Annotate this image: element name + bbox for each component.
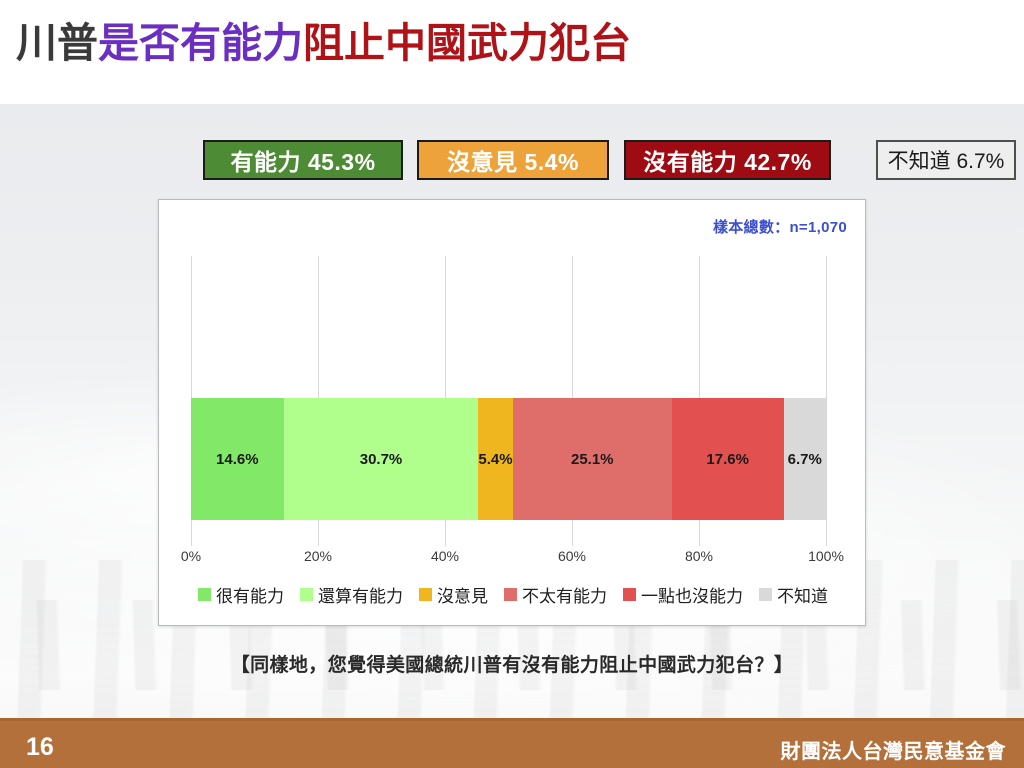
legend-swatch-icon — [198, 588, 211, 601]
x-axis-tick-labels: 0%20%40%60%80%100% — [191, 548, 826, 570]
chart-caption: 【同樣地，您覺得美國總統川普有沒有能力阻止中國武力犯台？】 — [0, 650, 1024, 677]
footer-organization: 財團法人台灣民意基金會 — [781, 735, 1007, 764]
sample-size-note: 樣本總數：n=1,070 — [713, 216, 847, 237]
x-tick-20: 20% — [304, 548, 332, 564]
legend-item-3[interactable]: 沒意見 — [419, 582, 488, 607]
x-tick-100: 100% — [808, 548, 844, 564]
legend-item-5[interactable]: 一點也沒能力 — [623, 582, 743, 607]
page-title: 川普是否有能力阻止中國武力犯台 — [16, 19, 631, 67]
chart-legend: 很有能力還算有能力沒意見不太有能力一點也沒能力不知道 — [159, 582, 867, 607]
title-part-question: 是否有能力 — [98, 20, 303, 66]
legend-swatch-icon — [300, 588, 313, 601]
title-part-subject: 川普 — [16, 20, 98, 66]
legend-item-2[interactable]: 還算有能力 — [300, 582, 403, 607]
bar-segment-2: 30.7% — [284, 398, 479, 520]
plot-area: 14.6%30.7%5.4%25.1%17.6%6.7% — [191, 256, 826, 546]
legend-item-6[interactable]: 不知道 — [759, 582, 828, 607]
page-number: 16 — [26, 733, 54, 762]
summary-box-unable: 沒有能力 42.7% — [624, 140, 831, 180]
summary-box-dont-know: 不知道 6.7% — [876, 140, 1016, 180]
footer-bar: 16 財團法人台灣民意基金會 — [0, 718, 1024, 768]
legend-label: 很有能力 — [216, 582, 284, 607]
legend-swatch-icon — [504, 588, 517, 601]
bar-segment-4: 25.1% — [513, 398, 672, 520]
legend-item-1[interactable]: 很有能力 — [198, 582, 284, 607]
legend-label: 一點也沒能力 — [641, 582, 743, 607]
stacked-bar: 14.6%30.7%5.4%25.1%17.6%6.7% — [191, 398, 826, 520]
legend-label: 還算有能力 — [318, 582, 403, 607]
legend-label: 不太有能力 — [522, 582, 607, 607]
title-part-topic: 阻止中國武力犯台 — [303, 20, 631, 66]
legend-item-4[interactable]: 不太有能力 — [504, 582, 607, 607]
bar-segment-6: 6.7% — [784, 398, 827, 520]
title-band: 川普是否有能力阻止中國武力犯台 — [0, 0, 1024, 104]
legend-label: 不知道 — [777, 582, 828, 607]
chart-panel: 樣本總數：n=1,070 14.6%30.7%5.4%25.1%17.6%6.7… — [158, 199, 866, 626]
x-tick-80: 80% — [685, 548, 713, 564]
legend-swatch-icon — [623, 588, 636, 601]
x-tick-0: 0% — [181, 548, 201, 564]
summary-box-no-opinion: 沒意見 5.4% — [417, 140, 609, 180]
x-tick-40: 40% — [431, 548, 459, 564]
bar-segment-3: 5.4% — [478, 398, 512, 520]
legend-swatch-icon — [759, 588, 772, 601]
bar-segment-1: 14.6% — [191, 398, 284, 520]
summary-boxes: 有能力 45.3% 沒意見 5.4% 沒有能力 42.7% 不知道 6.7% — [0, 140, 1024, 182]
bar-segment-5: 17.6% — [672, 398, 784, 520]
legend-label: 沒意見 — [437, 582, 488, 607]
legend-swatch-icon — [419, 588, 432, 601]
slide: 川普是否有能力阻止中國武力犯台 有能力 45.3% 沒意見 5.4% 沒有能力 … — [0, 0, 1024, 768]
summary-box-able: 有能力 45.3% — [203, 140, 403, 180]
gridline-100 — [826, 256, 827, 546]
x-tick-60: 60% — [558, 548, 586, 564]
